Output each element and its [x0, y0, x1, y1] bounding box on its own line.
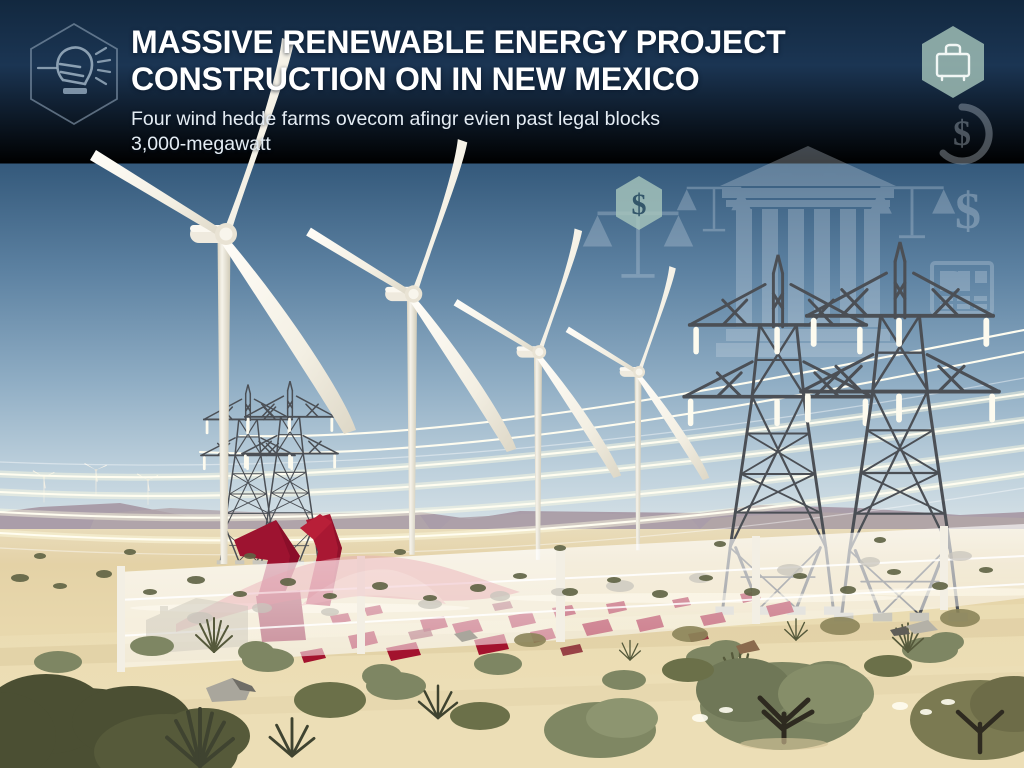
corner-badges — [0, 0, 1024, 768]
lightbulb-hexagon-icon — [31, 24, 117, 124]
news-illustration-canvas: $ $ $ — [0, 0, 1024, 768]
briefcase-hexagon-icon — [922, 26, 984, 98]
